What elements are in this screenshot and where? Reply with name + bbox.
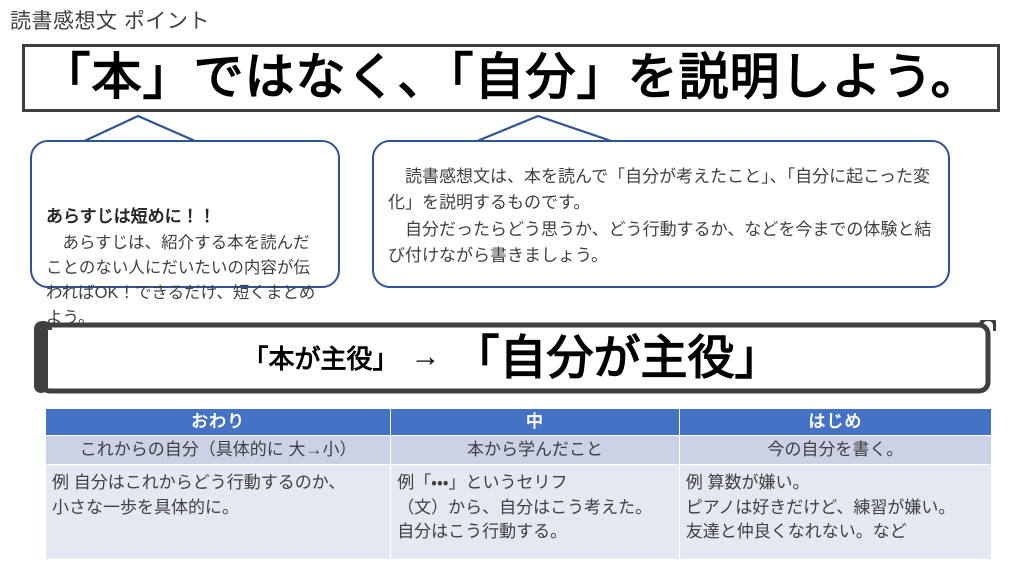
- points-table: おわり 中 はじめ これからの自分（具体的に 大→小） 本から学んだこと 今の自…: [45, 408, 992, 560]
- callout-summary-length-text: あらすじは、紹介する本を読んだことのない人にだいたいの内容が伝わればOK！できる…: [46, 234, 315, 327]
- slide-title: 読書感想文 ポイント: [10, 9, 210, 34]
- table-cell-summary-hajime: 今の自分を書く。: [679, 436, 991, 465]
- callout-what-to-write-text: 読書感想文は、本を読んで「自分が考えたこと」、「自分に起こった変化」を説明するも…: [374, 142, 948, 277]
- table-cell-example-owari: 例 自分はこれからどう行動するのか、 小さな一歩を具体的に。: [46, 465, 391, 560]
- table-cell-summary-naka: 本から学んだこと: [391, 436, 680, 465]
- bracket-band: 「本が主役」 → 「自分が主役」: [28, 320, 996, 396]
- callout-summary-length-heading: あらすじは短めに！！: [46, 204, 324, 230]
- table-row-summary: これからの自分（具体的に 大→小） 本から学んだこと 今の自分を書く。: [46, 436, 992, 465]
- main-heading-box: 「本」ではなく、「自分」を説明しよう。: [22, 44, 1000, 112]
- table-header-hajime: はじめ: [679, 409, 991, 436]
- callout-summary-length: あらすじは短めに！！ あらすじは、紹介する本を読んだことのない人にだいたいの内容…: [30, 140, 340, 288]
- arrow-right-icon: →: [409, 340, 443, 374]
- bracket-after-text: 「自分が主役」: [453, 334, 782, 381]
- bracket-before-text: 「本が主役」: [242, 339, 398, 376]
- table-header-row: おわり 中 はじめ: [46, 409, 992, 436]
- table-header-naka: 中: [391, 409, 680, 436]
- table-cell-example-naka: 例「・・・」というセリフ （文）から、自分はこう考えた。 自分はこう行動する。: [391, 465, 680, 560]
- table-row-examples: 例 自分はこれからどう行動するのか、 小さな一歩を具体的に。 例「・・・」という…: [46, 465, 992, 560]
- table-cell-summary-owari: これからの自分（具体的に 大→小）: [46, 436, 391, 465]
- main-heading-text: 「本」ではなく、「自分」を説明しよう。: [41, 52, 982, 102]
- bracket-text-group: 「本が主役」 → 「自分が主役」: [28, 320, 996, 396]
- points-table-wrap: おわり 中 はじめ これからの自分（具体的に 大→小） 本から学んだこと 今の自…: [45, 408, 992, 560]
- callout-what-to-write: 読書感想文は、本を読んで「自分が考えたこと」、「自分に起こった変化」を説明するも…: [372, 140, 950, 288]
- table-header-owari: おわり: [46, 409, 391, 436]
- table-cell-example-hajime: 例 算数が嫌い。 ピアノは好きだけど、練習が嫌い。 友達と仲良くなれない。など: [679, 465, 991, 560]
